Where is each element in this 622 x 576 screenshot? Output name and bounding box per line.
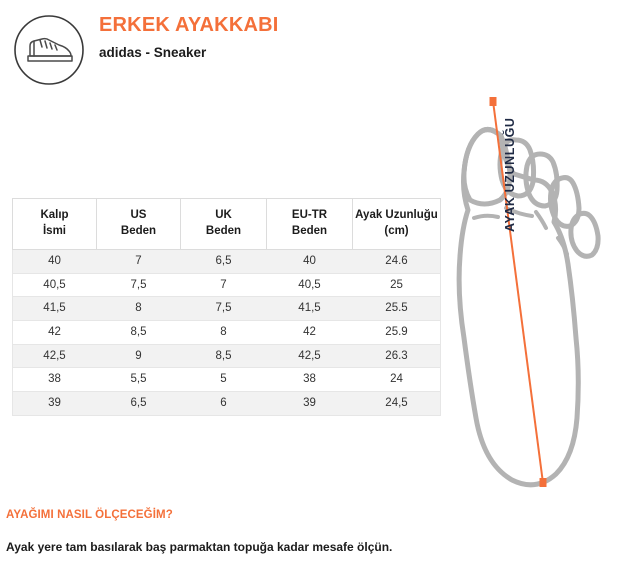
column-header-line2: Beden (99, 224, 178, 240)
cell-uk-beden: 7,5 (181, 297, 267, 321)
column-header-line2: Beden (183, 224, 264, 240)
cell-us-beden: 8,5 (97, 321, 181, 345)
cell-eu-tr-beden: 39 (267, 392, 353, 416)
cell-us-beden: 6,5 (97, 392, 181, 416)
column-header-us-beden: US Beden (97, 199, 181, 250)
cell-ayak-uzunlugu: 24.6 (353, 250, 441, 274)
cell-uk-beden: 8,5 (181, 344, 267, 368)
column-header-line1: UK (215, 209, 232, 221)
cell-ayak-uzunlugu: 24 (353, 368, 441, 392)
sneaker-shoe-icon (13, 14, 85, 86)
size-chart-table: Kalıp İsmi US Beden UK Beden EU-TR Beden… (12, 198, 441, 416)
page-subtitle: adidas - Sneaker (99, 46, 279, 61)
cell-ayak-uzunlugu: 25 (353, 273, 441, 297)
column-header-line2: Beden (269, 224, 350, 240)
cell-uk-beden: 5 (181, 368, 267, 392)
cell-us-beden: 7 (97, 250, 181, 274)
column-header-line1: EU-TR (292, 209, 327, 221)
cell-kalip-ismi: 39 (13, 392, 97, 416)
cell-eu-tr-beden: 40 (267, 250, 353, 274)
cell-uk-beden: 7 (181, 273, 267, 297)
cell-us-beden: 7,5 (97, 273, 181, 297)
cell-kalip-ismi: 41,5 (13, 297, 97, 321)
measurement-label: AYAK UZUNLUĞU (503, 117, 517, 232)
header-text-block: ERKEK AYAKKABI adidas - Sneaker (99, 14, 279, 61)
table-row: 41,5 8 7,5 41,5 25.5 (13, 297, 441, 321)
column-header-line1: Kalıp (40, 209, 68, 221)
column-header-line1: US (131, 209, 147, 221)
cell-us-beden: 8 (97, 297, 181, 321)
foot-measurement-diagram (440, 88, 622, 498)
column-header-kalip-ismi: Kalıp İsmi (13, 199, 97, 250)
table-row: 38 5,5 5 38 24 (13, 368, 441, 392)
table-row: 42 8,5 8 42 25.9 (13, 321, 441, 345)
column-header-eu-tr-beden: EU-TR Beden (267, 199, 353, 250)
cell-kalip-ismi: 40 (13, 250, 97, 274)
table-row: 42,5 9 8,5 42,5 26.3 (13, 344, 441, 368)
cell-kalip-ismi: 38 (13, 368, 97, 392)
column-header-line2: İsmi (15, 224, 94, 240)
column-header-ayak-uzunlugu: Ayak Uzunluğu (cm) (353, 199, 441, 250)
column-header-line1: Ayak Uzunluğu (355, 209, 438, 221)
cell-us-beden: 5,5 (97, 368, 181, 392)
page-header: ERKEK AYAKKABI adidas - Sneaker (0, 0, 622, 95)
cell-eu-tr-beden: 42,5 (267, 344, 353, 368)
cell-ayak-uzunlugu: 26.3 (353, 344, 441, 368)
cell-ayak-uzunlugu: 25.9 (353, 321, 441, 345)
cell-kalip-ismi: 40,5 (13, 273, 97, 297)
cell-uk-beden: 6 (181, 392, 267, 416)
cell-uk-beden: 8 (181, 321, 267, 345)
cell-ayak-uzunlugu: 24,5 (353, 392, 441, 416)
cell-uk-beden: 6,5 (181, 250, 267, 274)
page-title: ERKEK AYAKKABI (99, 14, 279, 36)
cell-kalip-ismi: 42 (13, 321, 97, 345)
table-row: 39 6,5 6 39 24,5 (13, 392, 441, 416)
column-header-uk-beden: UK Beden (181, 199, 267, 250)
how-to-measure-body: Ayak yere tam basılarak baş parmaktan to… (6, 540, 392, 554)
cell-eu-tr-beden: 40,5 (267, 273, 353, 297)
measurement-line (493, 101, 543, 483)
cell-eu-tr-beden: 42 (267, 321, 353, 345)
cell-kalip-ismi: 42,5 (13, 344, 97, 368)
how-to-measure-heading: AYAĞIMI NASIL ÖLÇECEĞİM? (6, 509, 173, 521)
cell-ayak-uzunlugu: 25.5 (353, 297, 441, 321)
cell-us-beden: 9 (97, 344, 181, 368)
table-row: 40 7 6,5 40 24.6 (13, 250, 441, 274)
table-header-row: Kalıp İsmi US Beden UK Beden EU-TR Beden… (13, 199, 441, 250)
cell-eu-tr-beden: 41,5 (267, 297, 353, 321)
table-row: 40,5 7,5 7 40,5 25 (13, 273, 441, 297)
column-header-line2: (cm) (355, 224, 438, 240)
cell-eu-tr-beden: 38 (267, 368, 353, 392)
